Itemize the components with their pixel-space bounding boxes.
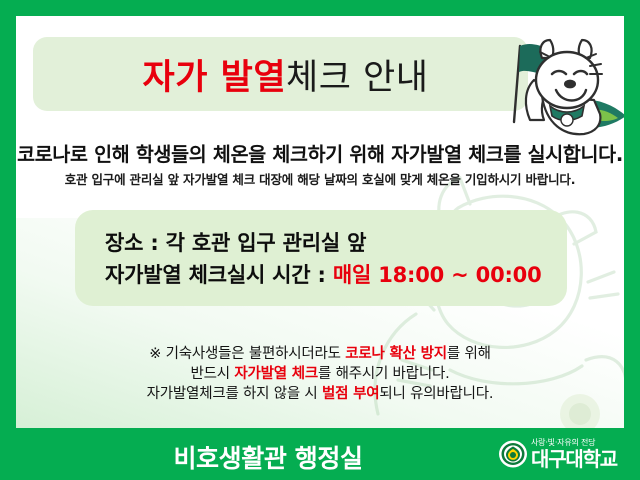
info-time-value: 매일 18:00 ~ 00:00: [333, 263, 542, 287]
footer-bar: 비호생활관 행정실 사랑·빛·자유의 전당 대구대학교: [0, 428, 640, 480]
notice-line-2: 반드시 자가발열 체크를 해주시기 바랍니다.: [16, 364, 624, 384]
info-lines: 장소 : 각 호관 입구 관리실 앞 자가발열 체크실시 시간 : 매일 18:…: [105, 227, 553, 291]
university-logo: 사랑·빛·자유의 전당 대구대학교: [498, 435, 632, 473]
poster-canvas: 자가 발열 체크 안내: [16, 16, 624, 428]
notice-line-1-b: 를 위해: [447, 346, 491, 362]
notice-line-2-a: 반드시: [190, 366, 234, 382]
notice-line-3-highlight: 벌점 부여: [322, 386, 379, 402]
info-time-line: 자가발열 체크실시 시간 : 매일 18:00 ~ 00:00: [105, 259, 553, 291]
tiger-mascot-icon: [486, 24, 624, 144]
notice-line-2-highlight: 자가발열 체크: [234, 366, 318, 382]
university-emblem-icon: [498, 439, 528, 469]
subheadline-text: 호관 입구에 관리실 앞 자가발열 체크 대장에 해당 날짜의 호실에 맞게 체…: [16, 169, 624, 188]
notice-line-1: ※ 기숙사생들은 불편하시더라도 코로나 확산 방지를 위해: [16, 344, 624, 364]
university-name: 대구대학교: [531, 448, 617, 470]
notice-line-3-b: 되니 유의바랍니다.: [379, 386, 493, 402]
page-title-highlight: 자가 발열: [143, 49, 287, 100]
notice-line-3-a: 자가발열체크를 하지 않을 시: [147, 386, 322, 402]
poster-root: 자가 발열 체크 안내: [0, 0, 640, 480]
notice-line-2-b: 를 해주시기 바랍니다.: [318, 366, 450, 382]
page-title-rest: 체크 안내: [286, 49, 428, 100]
title-banner: 자가 발열 체크 안내: [33, 37, 528, 111]
page-title: 자가 발열 체크 안내: [33, 37, 528, 111]
headline-text: 코로나로 인해 학생들의 체온을 체크하기 위해 자가발열 체크를 실시합니다.: [16, 138, 624, 167]
info-box: 장소 : 각 호관 입구 관리실 앞 자가발열 체크실시 시간 : 매일 18:…: [75, 210, 567, 306]
notice-line-1-highlight: 코로나 확산 방지: [345, 346, 447, 362]
university-wordmark: 사랑·빛·자유의 전당 대구대학교: [531, 438, 617, 470]
info-time-label: 자가발열 체크실시 시간 :: [105, 263, 333, 287]
notice-block: ※ 기숙사생들은 불편하시더라도 코로나 확산 방지를 위해 반드시 자가발열 …: [16, 344, 624, 404]
notice-line-3: 자가발열체크를 하지 않을 시 벌점 부여되니 유의바랍니다.: [16, 384, 624, 404]
notice-line-1-a: ※ 기숙사생들은 불편하시더라도: [149, 346, 345, 362]
info-place-line: 장소 : 각 호관 입구 관리실 앞: [105, 227, 553, 259]
